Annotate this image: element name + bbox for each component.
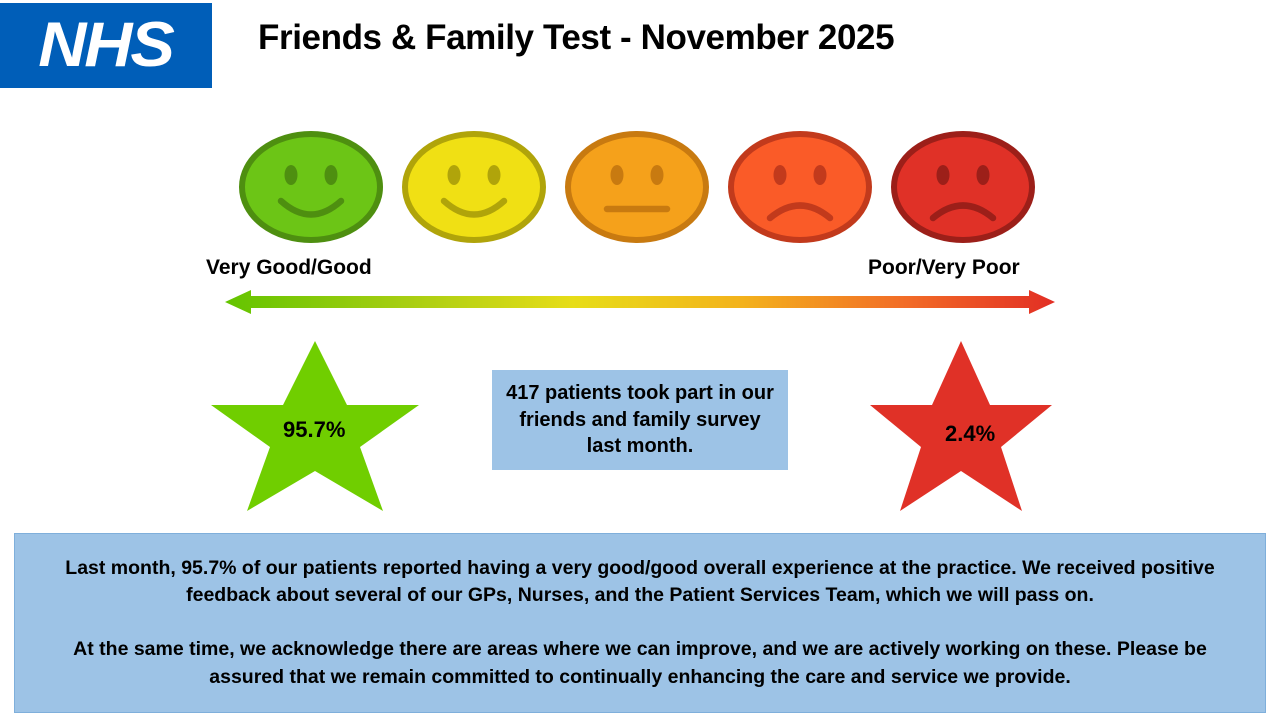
scale-gradient-arrow bbox=[225, 287, 1055, 317]
summary-paragraph-2: At the same time, we acknowledge there a… bbox=[37, 636, 1243, 691]
face-good-icon bbox=[400, 131, 548, 243]
participation-callout: 417 patients took part in our friends an… bbox=[492, 370, 788, 470]
nhs-logo-text: NHS bbox=[39, 14, 174, 77]
face-very-good-icon bbox=[237, 131, 385, 243]
satisfaction-face-scale bbox=[237, 131, 1037, 243]
negative-score-value: 2.4% bbox=[945, 421, 995, 447]
nhs-logo: NHS bbox=[0, 3, 212, 88]
page-title: Friends & Family Test - November 2025 bbox=[258, 18, 894, 58]
positive-score-value: 95.7% bbox=[283, 417, 345, 443]
face-very-poor-icon bbox=[889, 131, 1037, 243]
scale-label-negative: Poor/Very Poor bbox=[868, 256, 1020, 280]
face-neutral-icon bbox=[563, 131, 711, 243]
participation-text: 417 patients took part in our friends an… bbox=[506, 380, 774, 459]
positive-score-star: 95.7% bbox=[207, 337, 423, 515]
summary-paragraph-1: Last month, 95.7% of our patients report… bbox=[37, 555, 1243, 610]
face-poor-icon bbox=[726, 131, 874, 243]
scale-label-positive: Very Good/Good bbox=[206, 256, 372, 280]
negative-score-star: 2.4% bbox=[867, 337, 1055, 515]
summary-panel: Last month, 95.7% of our patients report… bbox=[14, 533, 1266, 713]
